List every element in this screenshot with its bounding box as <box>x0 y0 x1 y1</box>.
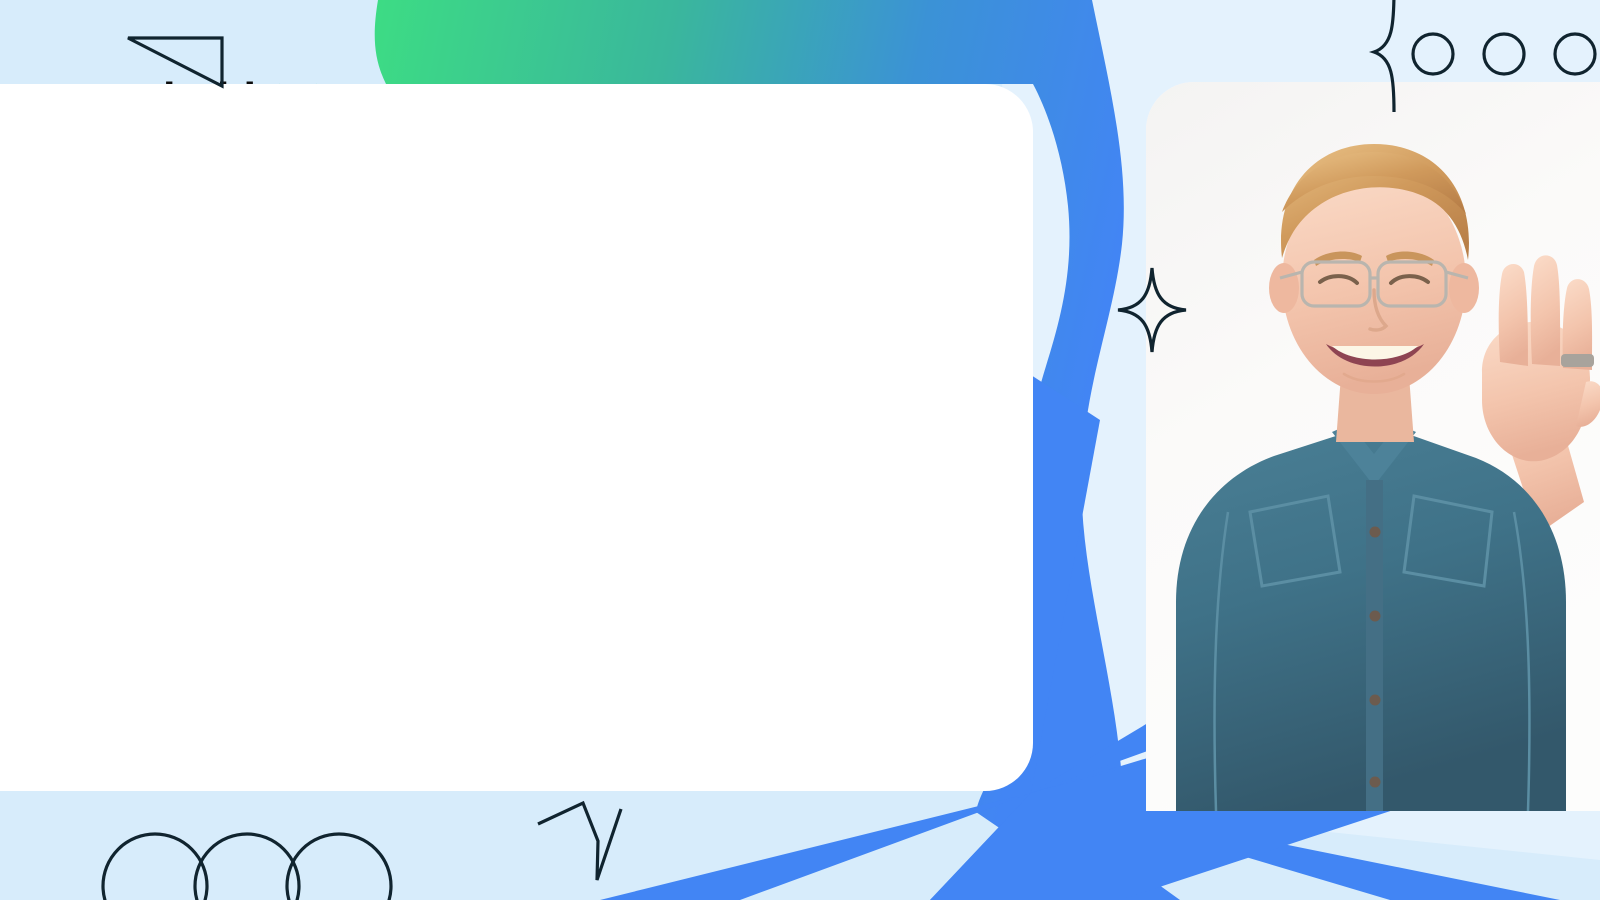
slide-canvas: android dev summit Top 3 picks: Form Fac… <box>0 0 1600 900</box>
denim-shirt <box>1176 424 1566 811</box>
ring-band <box>1561 354 1594 367</box>
speaker-photo <box>1146 82 1600 811</box>
content-card <box>0 84 1033 791</box>
speaker-portrait-illustration <box>1146 82 1600 811</box>
